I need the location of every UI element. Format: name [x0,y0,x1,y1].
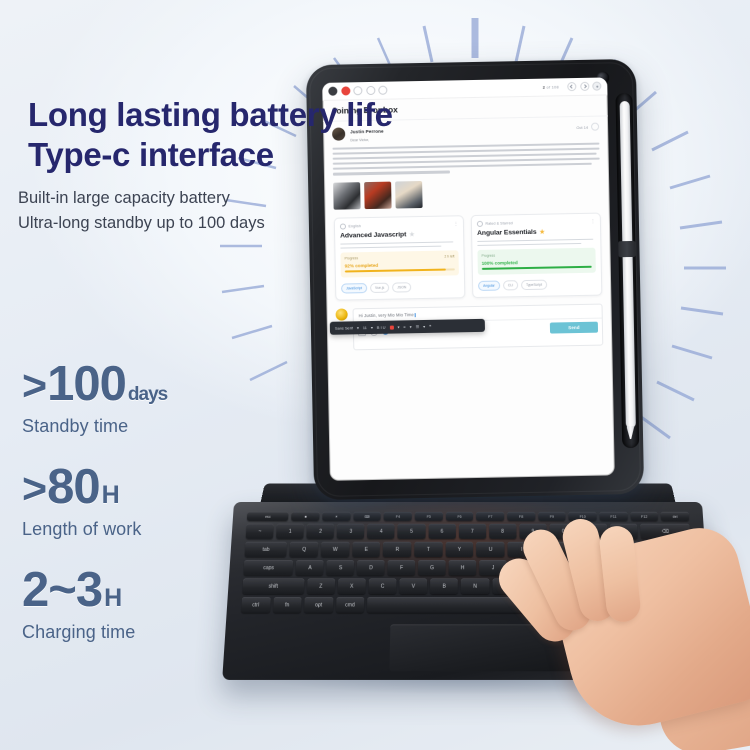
key-sym[interactable]: ■ [292,512,320,521]
spec-list: > 100 days Standby time > 80 H Length of… [22,360,167,669]
card-0-kicker: English [348,222,453,228]
key-x[interactable]: X [338,578,366,593]
compose-avatar [336,309,348,321]
card-1-tag-2[interactable]: TypeScript [521,280,547,290]
mail-actions-icon[interactable] [591,123,599,131]
photo-thumbnail-1[interactable] [333,182,361,210]
pagination-current: 2 [543,85,546,90]
key-r[interactable]: R [383,542,411,557]
chevron-down-icon[interactable]: ▾ [371,325,373,330]
stylus-dock-band [618,241,635,257]
photo-thumbnail-2[interactable] [364,181,392,209]
key-opt[interactable]: opt [304,597,333,613]
key-d[interactable]: D [357,560,385,575]
card-0-progress: Progress 2 h left 92% completed [340,251,458,278]
key-ctrl[interactable]: ctrl [241,597,270,613]
product-marketing-image: Long lasting battery life Type-c interfa… [0,0,750,750]
spec-standby-time: > 100 days Standby time [22,360,167,437]
chevron-down-icon[interactable]: ▾ [357,325,359,330]
spec-0-unit: days [128,385,167,404]
key-f4[interactable]: F4 [384,512,412,521]
course-card-angular-essentials[interactable]: Rated & Starred ⋮ Angular Essentials ★ P… [471,212,603,298]
key-shift[interactable]: shift [242,578,304,593]
key-7[interactable]: 7 [459,524,486,539]
course-card-list: English ⋮ Advanced Javascript ★ Progress [325,204,612,301]
key-2[interactable]: 2 [307,524,335,539]
key-s[interactable]: S [327,560,355,575]
key-3[interactable]: 3 [337,524,365,539]
key-w[interactable]: W [321,542,350,557]
subcopy-line-2: Ultra-long standby up to 100 days [18,211,265,236]
more-button[interactable] [378,86,387,95]
star-icon[interactable]: ★ [409,231,414,238]
spec-0-value: 100 [47,360,126,409]
card-0-tag-0[interactable]: JavaScript [341,283,367,293]
card-0-progress-track [345,269,455,273]
key-n[interactable]: N [461,578,489,593]
key-f7[interactable]: F7 [476,512,504,521]
key-v[interactable]: V [399,578,427,593]
card-1-menu-icon[interactable]: ⋮ [590,219,595,223]
spec-2-unit: H [104,586,121,611]
gear-icon[interactable] [592,82,601,91]
key-q[interactable]: Q [290,542,319,557]
headline-line-2: Type-c interface [28,135,393,175]
card-1-description [477,238,595,246]
card-1-tag-0[interactable]: Angular [478,281,500,291]
globe-icon [477,220,483,226]
key-z[interactable]: Z [307,578,335,593]
spec-1-unit: H [102,483,119,508]
key-f6[interactable]: F6 [446,512,474,521]
maximize-button[interactable] [366,86,375,95]
card-1-kicker: Rated & Starred [485,219,590,225]
card-0-tag-2[interactable]: JSON [392,282,411,292]
text-style-buttons[interactable]: B I U [377,325,386,330]
key-esc[interactable]: esc [247,512,289,521]
card-0-description [340,241,458,249]
key-u[interactable]: U [477,542,505,557]
key-5[interactable]: 5 [398,524,426,539]
font-size-select[interactable]: 11 [363,325,367,330]
stylus-pen [619,101,635,428]
card-1-tags: Angular CLI TypeScript [478,279,596,291]
spec-1-label: Length of work [22,519,167,540]
card-1-progress-label: Progress [482,252,592,258]
card-0-progress-time: 2 h left [444,255,454,259]
key-cmd[interactable]: cmd [336,597,365,613]
star-icon[interactable]: ★ [539,228,544,235]
align-icon[interactable]: ≡ [403,325,405,330]
headline-line-1: Long lasting battery life [28,96,393,133]
key-1[interactable]: 1 [276,524,304,539]
compose-area: Hi Justin, very Mio Mio Time Sans Serif … [326,296,612,351]
spec-2-value: 2~3 [22,566,102,615]
text-caret [415,313,416,318]
next-message-icon[interactable] [580,82,589,91]
card-0-progress-text: 92% completed [345,261,455,268]
key-y[interactable]: Y [445,542,473,557]
spec-0-gt: > [22,365,46,408]
key-sym[interactable]: ⌨ [353,512,381,521]
chevron-down-icon[interactable]: ▾ [423,324,425,329]
key-4[interactable]: 4 [367,524,395,539]
font-family-select[interactable]: Sans Serif [335,326,353,331]
key-h[interactable]: H [449,560,476,575]
course-card-advanced-javascript[interactable]: English ⋮ Advanced Javascript ★ Progress [334,215,466,301]
previous-message-icon[interactable] [567,82,576,91]
card-0-progress-fill [345,269,446,273]
spec-charging-time: 2~3 H Charging time [22,566,167,643]
send-button[interactable]: Send [550,322,598,334]
spec-2-label: Charging time [22,622,167,643]
key-6[interactable]: 6 [428,524,455,539]
card-1-progress: Progress 100% completed [477,248,595,275]
card-0-tags: JavaScript Vue.js JSON [341,282,459,294]
spec-1-value: 80 [47,463,100,512]
hand-typing [505,500,750,750]
photo-thumbnail-3[interactable] [395,181,423,209]
quote-icon[interactable]: ❝ [429,324,431,329]
spec-length-of-work: > 80 H Length of work [22,463,167,540]
card-1-progress-fill [482,266,592,270]
key-caps[interactable]: caps [243,560,293,575]
text-color-icon[interactable] [389,325,393,329]
page-headline: Long lasting battery life Type-c interfa… [28,95,393,175]
key-c[interactable]: C [368,578,396,593]
key-g[interactable]: G [418,560,446,575]
minimize-button[interactable] [353,86,362,95]
key-f[interactable]: F [388,560,416,575]
globe-icon [340,223,346,229]
key-sym[interactable]: ~ [246,524,274,539]
mail-date: Oct 14 [576,124,588,129]
bar-spacer [391,87,543,90]
key-sym[interactable]: ☀ [322,512,350,521]
card-0-menu-icon[interactable]: ⋮ [453,222,458,226]
reply-input[interactable]: Hi Justin, very Mio Mio Time Sans Serif … [353,304,604,351]
key-a[interactable]: A [296,560,324,575]
pagination-total: of 108 [546,84,558,89]
card-0-tag-1[interactable]: Vue.js [370,283,390,293]
card-0-title: Advanced Javascript [340,231,406,239]
spec-1-gt: > [22,468,46,511]
key-b[interactable]: B [430,578,458,593]
pagination-label: 2 of 108 [543,84,559,89]
page-subcopy: Built-in large capacity battery Ultra-lo… [18,186,265,236]
subcopy-line-1: Built-in large capacity battery [18,186,265,211]
card-0-progress-label: Progress [345,255,445,261]
card-1-progress-text: 100% completed [482,258,592,265]
key-tab[interactable]: tab [245,542,288,557]
key-f5[interactable]: F5 [415,512,443,521]
card-1-tag-1[interactable]: CLI [503,280,518,290]
chevron-down-icon[interactable]: ▾ [397,325,399,330]
key-t[interactable]: T [414,542,442,557]
card-1-title: Angular Essentials [477,228,537,236]
key-e[interactable]: E [352,542,380,557]
spec-0-label: Standby time [22,416,167,437]
card-1-progress-track [482,266,592,270]
list-icon[interactable]: ☰ [416,324,420,329]
key-fn[interactable]: fn [273,597,302,613]
chevron-down-icon[interactable]: ▾ [410,324,412,329]
